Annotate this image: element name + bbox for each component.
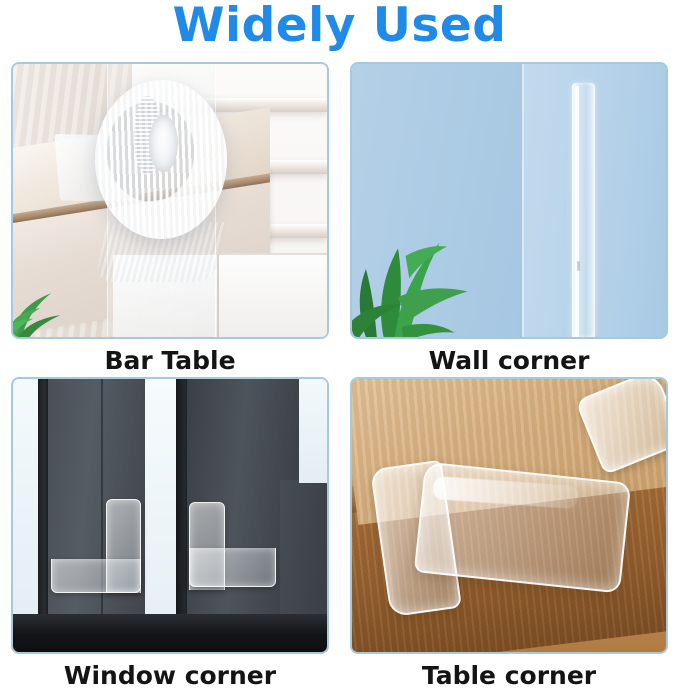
- window-sill: [13, 614, 327, 652]
- panel-caption: Window corner: [11, 660, 329, 692]
- wall-corner-edge: [522, 64, 524, 337]
- panel-caption: Bar Table: [11, 345, 329, 377]
- corner-guard-right-horizontal: [189, 548, 276, 587]
- installed-corner-guard: [380, 464, 622, 609]
- panel-caption: Table corner: [350, 660, 668, 692]
- page-title: Widely Used: [0, 0, 679, 54]
- fern-plant-icon: [11, 266, 85, 339]
- fern-plant: [11, 266, 85, 339]
- leafy-plant: [350, 211, 481, 339]
- window-glass-right: [299, 379, 327, 483]
- panel-wall-corner[interactable]: Wall corner: [350, 62, 668, 339]
- window-glass-left: [13, 379, 41, 614]
- panel-grid: Bar Table: [0, 62, 679, 676]
- photo-table-corner: [350, 377, 668, 654]
- panel-bar-table[interactable]: Bar Table: [11, 62, 329, 339]
- photo-window-corner: [11, 377, 329, 654]
- photo-wall-corner: [350, 62, 668, 339]
- corner-guard-left-horizontal: [51, 559, 141, 593]
- window-sash-right-lower: [280, 480, 327, 614]
- panel-window-corner[interactable]: Window corner: [11, 377, 329, 654]
- tape-roll: [95, 80, 227, 238]
- wall-corner-guard: [572, 83, 596, 337]
- tape-roll-core: [149, 115, 178, 172]
- photo-bar-table: [11, 62, 329, 339]
- leafy-plant-icon: [350, 211, 481, 339]
- panel-caption: Wall corner: [350, 345, 668, 377]
- window-glass-middle: [145, 379, 180, 614]
- panel-table-corner[interactable]: Table corner: [350, 377, 668, 654]
- guard-seam-mark: [577, 261, 580, 271]
